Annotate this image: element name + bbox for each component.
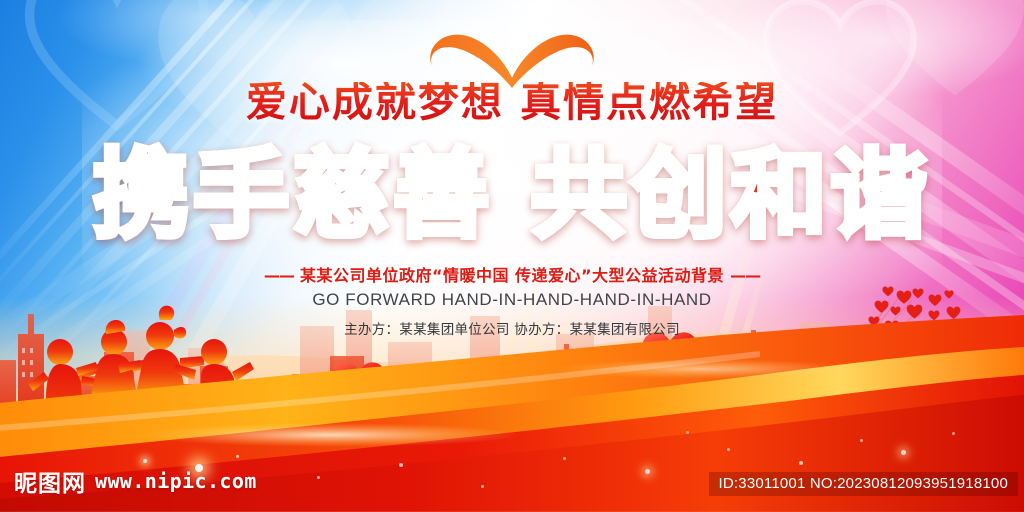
image-id-badge: ID:33011001 NO:20230812093951918100	[709, 472, 1018, 496]
tagline-rule-right: ——	[730, 266, 760, 285]
poster-canvas: 爱心成就梦想 真情点燃希望 携手慈善 共创和谐 携手慈善 共创和谐 —— 某某公…	[0, 0, 1024, 512]
tagline-text: 某某公司单位政府“情暖中国 传递爱心”大型公益活动背景	[300, 266, 724, 285]
poster-organizers: 主办方：某某集团单位公司 协办方：某某集团有限公司	[0, 318, 1024, 338]
poster-content: 爱心成就梦想 真情点燃希望 携手慈善 共创和谐 携手慈善 共创和谐 —— 某某公…	[0, 0, 1024, 512]
watermark-brand-url: www.nipic.com	[95, 469, 257, 493]
poster-title: 携手慈善 共创和谐	[0, 144, 1024, 248]
poster-subtitle: 爱心成就梦想 真情点燃希望	[0, 82, 1024, 123]
site-watermark[interactable]: 昵图网 www.nipic.com	[14, 464, 257, 498]
poster-tagline: —— 某某公司单位政府“情暖中国 传递爱心”大型公益活动背景 ——	[0, 262, 1024, 286]
watermark-brand-cn: 昵图网	[14, 464, 86, 498]
poster-english-line: GO FORWARD HAND-IN-HAND-HAND-IN-HAND	[0, 290, 1024, 310]
tagline-rule-left: ——	[264, 266, 294, 285]
